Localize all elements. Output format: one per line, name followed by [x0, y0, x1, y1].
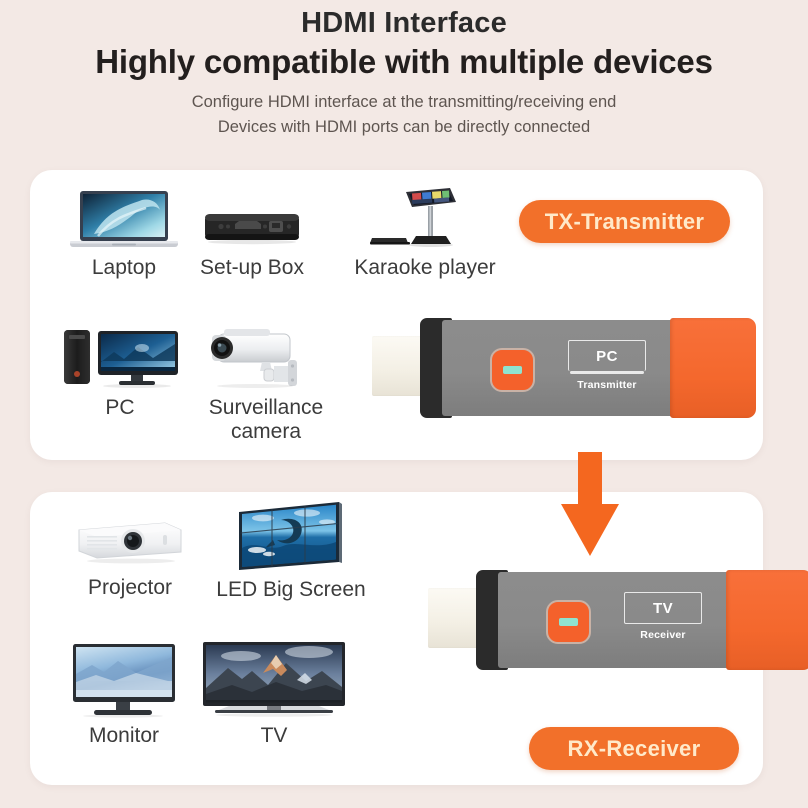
device-label: Surveillance camera [186, 396, 346, 443]
subtitle-line-1: Configure HDMI interface at the transmit… [0, 91, 808, 115]
karaoke-player-icon [330, 188, 520, 250]
projector-icon [60, 508, 200, 570]
tx-transmitter-badge[interactable]: TX-Transmitter [519, 200, 730, 243]
dongle-pair-button[interactable] [490, 348, 535, 392]
device-laptop: Laptop [60, 188, 188, 280]
device-tv: TV [198, 640, 350, 748]
device-led-big-screen: LED Big Screen [198, 500, 384, 602]
set-top-box-icon [188, 188, 316, 250]
dongle-grey-body [498, 572, 743, 668]
subtitle-line-2: Devices with HDMI ports can be directly … [0, 116, 808, 140]
device-label: LED Big Screen [198, 578, 384, 602]
cctv-camera-icon [186, 322, 346, 390]
desktop-pc-icon [55, 322, 185, 390]
device-label: PC [55, 396, 185, 420]
dongle-orange-cap [726, 570, 808, 670]
rx-receiver-badge[interactable]: RX-Receiver [529, 727, 739, 770]
dongle-port-marking: TV Receiver [624, 592, 702, 641]
device-karaoke-player: Karaoke player [330, 188, 520, 280]
infographic-page: HDMI Interface Highly compatible with mu… [0, 0, 808, 808]
television-icon [198, 640, 350, 718]
dongle-pair-button[interactable] [546, 600, 591, 644]
dongle-orange-cap [670, 318, 756, 418]
device-monitor: Monitor [57, 640, 191, 748]
dongle-grey-body [442, 320, 687, 416]
page-header: HDMI Interface Highly compatible with mu… [0, 0, 808, 140]
device-surveillance-camera: Surveillance camera [186, 322, 346, 443]
device-label: Projector [60, 576, 200, 600]
device-projector: Projector [60, 508, 200, 600]
device-pc: PC [55, 322, 185, 420]
transmitter-dongle: PC Transmitter [372, 310, 762, 430]
video-wall-icon [198, 500, 384, 572]
laptop-icon [60, 188, 188, 250]
device-label: TV [198, 724, 350, 748]
monitor-icon [57, 640, 191, 718]
device-label: Set-up Box [188, 256, 316, 280]
dongle-role-label: Transmitter [568, 379, 646, 391]
device-set-top-box: Set-up Box [188, 188, 316, 280]
page-title-secondary: Highly compatible with multiple devices [0, 42, 808, 82]
page-title-primary: HDMI Interface [0, 6, 808, 40]
device-label: Monitor [57, 724, 191, 748]
tv-outline-icon: TV [624, 592, 702, 624]
dongle-led-indicator [503, 366, 522, 374]
dongle-port-marking: PC Transmitter [568, 340, 646, 391]
receiver-dongle: TV Receiver [428, 562, 808, 682]
dongle-led-indicator [559, 618, 578, 626]
dongle-role-label: Receiver [624, 629, 702, 641]
down-arrow-icon [559, 452, 621, 557]
laptop-outline-icon: PC [568, 340, 646, 371]
laptop-outline-base [570, 371, 643, 374]
device-label: Karaoke player [330, 256, 520, 280]
device-label: Laptop [60, 256, 188, 280]
